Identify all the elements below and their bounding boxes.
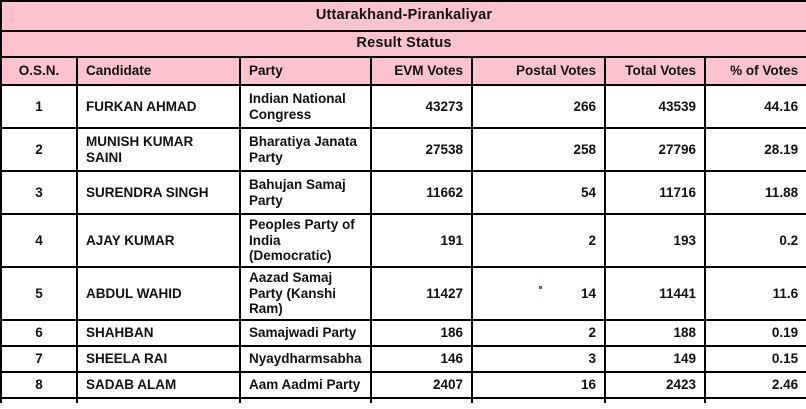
election-result-table: Uttarakhand-Pirankaliyar Result Status O… [0,0,806,403]
evm-votes-value: 11662 [371,171,472,214]
party-name: Aazad Samaj Party (Kanshi Ram) [240,267,371,320]
evm-votes-value: 27538 [371,128,472,171]
table-cell-partial [472,398,605,403]
table-row-partial [1,398,806,403]
party-name: Nyaydharmsabha [240,346,371,372]
candidate-serial-number: 8 [1,372,77,398]
column-header-candidate[interactable]: Candidate [77,57,240,85]
total-votes-value: 11441 [605,267,705,320]
candidate-serial-number: 3 [1,171,77,214]
party-name: Bharatiya Janata Party [240,128,371,171]
table-body: 1FURKAN AHMADIndian National Congress432… [1,85,806,403]
percent-votes-value: 28.19 [705,128,806,171]
candidate-serial-number: 4 [1,214,77,267]
column-header-percent-votes[interactable]: % of Votes [705,57,806,85]
party-name: Aam Aadmi Party [240,372,371,398]
postal-votes-value: 266 [472,85,605,128]
evm-votes-value: 2407 [371,372,472,398]
column-header-osn[interactable]: O.S.N. [1,57,77,85]
result-status-title-row: Result Status [1,31,806,57]
total-votes-value: 193 [605,214,705,267]
candidate-name: SHAHBAN [77,320,240,346]
table-row: 5ABDUL WAHIDAazad Samaj Party (Kanshi Ra… [1,267,806,320]
candidate-serial-number: 2 [1,128,77,171]
party-name: Samajwadi Party [240,320,371,346]
candidate-name: AJAY KUMAR [77,214,240,267]
candidate-serial-number: 5 [1,267,77,320]
percent-votes-value: 11.88 [705,171,806,214]
evm-votes-value: 11427 [371,267,472,320]
result-status-title: Result Status [1,31,806,57]
table-row: 6SHAHBANSamajwadi Party18621880.19 [1,320,806,346]
column-header-evm-votes[interactable]: EVM Votes [371,57,472,85]
postal-votes-value: 2 [472,320,605,346]
percent-votes-value: 0.2 [705,214,806,267]
table-cell-partial [705,398,806,403]
postal-votes-value: 258 [472,128,605,171]
percent-votes-value: 0.15 [705,346,806,372]
table-cell-partial [605,398,705,403]
evm-votes-value: 43273 [371,85,472,128]
total-votes-value: 149 [605,346,705,372]
constituency-title: Uttarakhand-Pirankaliyar [1,1,806,31]
candidate-name: FURKAN AHMAD [77,85,240,128]
table-row: 3SURENDRA SINGHBahujan Samaj Party116625… [1,171,806,214]
postal-votes-value: 3 [472,346,605,372]
table-cell-partial [240,398,371,403]
column-header-total-votes[interactable]: Total Votes [605,57,705,85]
party-name: Peoples Party of India (Democratic) [240,214,371,267]
candidate-serial-number: 1 [1,85,77,128]
candidate-name: SADAB ALAM [77,372,240,398]
candidate-serial-number: 6 [1,320,77,346]
table-cell-partial [371,398,472,403]
postal-votes-value: 54 [472,171,605,214]
evm-votes-value: 191 [371,214,472,267]
candidate-name: ABDUL WAHID [77,267,240,320]
party-name: Indian National Congress [240,85,371,128]
table-cell-partial [77,398,240,403]
percent-votes-value: 44.16 [705,85,806,128]
table-row: 7SHEELA RAINyaydharmsabha14631490.15 [1,346,806,372]
evm-votes-value: 186 [371,320,472,346]
candidate-name: SURENDRA SINGH [77,171,240,214]
constituency-title-row: Uttarakhand-Pirankaliyar [1,1,806,31]
total-votes-value: 27796 [605,128,705,171]
candidate-name: SHEELA RAI [77,346,240,372]
column-header-postal-votes[interactable]: Postal Votes [472,57,605,85]
evm-votes-value: 146 [371,346,472,372]
party-name: Bahujan Samaj Party [240,171,371,214]
candidate-name: MUNISH KUMAR SAINI [77,128,240,171]
total-votes-value: 43539 [605,85,705,128]
table-row: 4AJAY KUMARPeoples Party of India (Democ… [1,214,806,267]
total-votes-value: 11716 [605,171,705,214]
table-row: 1FURKAN AHMADIndian National Congress432… [1,85,806,128]
percent-votes-value: 11.6 [705,267,806,320]
table-row: 8SADAB ALAMAam Aadmi Party24071624232.46 [1,372,806,398]
postal-votes-value: 2 [472,214,605,267]
candidate-serial-number: 7 [1,346,77,372]
percent-votes-value: 2.46 [705,372,806,398]
total-votes-value: 2423 [605,372,705,398]
postal-votes-value: 16 [472,372,605,398]
table-header-row: O.S.N. Candidate Party EVM Votes Postal … [1,57,806,85]
table-row: 2MUNISH KUMAR SAINIBharatiya Janata Part… [1,128,806,171]
column-header-party[interactable]: Party [240,57,371,85]
total-votes-value: 188 [605,320,705,346]
postal-votes-value: 14 [472,267,605,320]
percent-votes-value: 0.19 [705,320,806,346]
result-status-panel: Uttarakhand-Pirankaliyar Result Status O… [0,0,806,403]
table-cell-partial [1,398,77,403]
